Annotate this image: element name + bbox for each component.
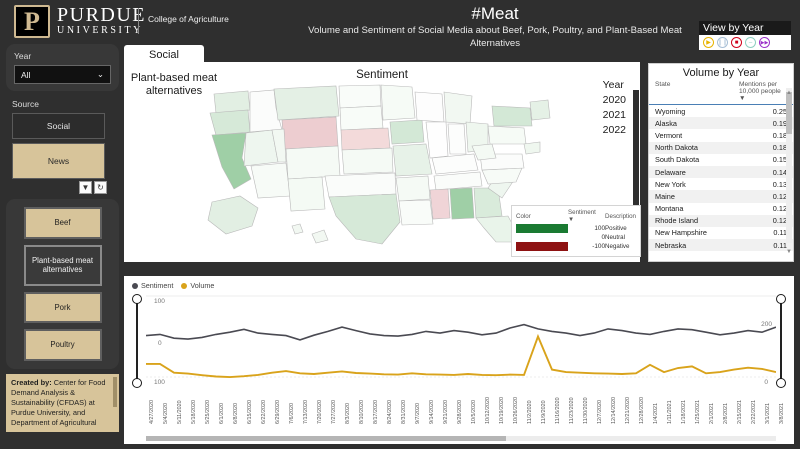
source-label: Source — [12, 99, 119, 109]
source-button-news[interactable]: News — [12, 143, 105, 179]
sidebar: Year All ⌄ Source Social News ▼ ↻ Beef P… — [6, 44, 119, 445]
x-axis-label: 11/23/2020 — [569, 397, 575, 424]
x-axis-label: 11/2/2020 — [527, 400, 533, 424]
x-axis-label: 6/29/2020 — [275, 400, 281, 424]
state-tennessee — [434, 172, 482, 190]
source-button-social[interactable]: Social — [12, 113, 105, 139]
x-axis-label: 11/16/2020 — [555, 397, 561, 424]
legend-label-sentiment: Sentiment — [141, 281, 173, 290]
cell-value: 0.13 — [757, 180, 787, 189]
legend-row-positive: 100 Positive — [516, 224, 636, 233]
state-wisconsin — [415, 92, 444, 122]
x-axis-label: 8/3/2020 — [345, 403, 351, 424]
legend-value-negative: -100 — [568, 242, 605, 251]
x-axis-label: 6/22/2020 — [261, 400, 267, 424]
chevron-down-icon: ⌄ — [97, 69, 104, 80]
legend-value-positive: 100 — [568, 224, 605, 233]
year-filter-panel: Year All ⌄ — [6, 44, 119, 91]
cell-state: Wyoming — [655, 107, 757, 116]
purdue-logo: P PURDUE UNIVERSITY — [14, 5, 146, 38]
state-colorado — [286, 146, 340, 179]
volume-table-title: Volume by Year — [649, 64, 793, 81]
chart-legend: Sentiment Volume — [132, 281, 214, 290]
table-row[interactable]: New York0.13 — [649, 178, 793, 190]
chart-plot-area[interactable] — [146, 294, 776, 379]
x-axis-label: 10/26/2020 — [513, 397, 519, 424]
x-axis-label: 1/18/2021 — [681, 400, 687, 424]
cell-value: 0.12 — [757, 216, 787, 225]
state-washington — [214, 91, 250, 113]
column-header-mentions[interactable]: Mentions per 10,000 people ▼ — [739, 81, 787, 102]
state-wyoming — [282, 117, 338, 149]
state-new-mexico — [288, 177, 325, 211]
x-axis-label: 8/17/2020 — [373, 400, 379, 424]
volume-by-year-card: Volume by Year State Mentions per 10,000… — [648, 63, 794, 262]
view-by-year-panel: View by Year ▶ ❙❙ ■ – ▶▶ — [699, 21, 791, 50]
cell-state: South Dakota — [655, 155, 757, 164]
x-axis-label: 3/1/2021 — [765, 403, 771, 424]
state-hawaii-2 — [312, 230, 328, 243]
table-row[interactable]: North Dakota0.18 — [649, 142, 793, 154]
legend-swatch-positive — [516, 224, 568, 233]
x-axis-label: 8/10/2020 — [359, 400, 365, 424]
volume-table-body: Wyoming0.25Alaska0.19Vermont0.18North Da… — [649, 105, 793, 251]
chart-x-axis-labels: 4/27/20205/4/20205/11/20205/18/20205/25/… — [146, 382, 776, 434]
table-row[interactable]: New Hampshire0.11 — [649, 227, 793, 239]
left-axis-slider-bottom-handle[interactable] — [132, 378, 142, 388]
state-new-england — [530, 100, 550, 120]
table-row[interactable]: Rhode Island0.12 — [649, 215, 793, 227]
app-header: P PURDUE UNIVERSITY College of Agricultu… — [0, 0, 800, 42]
volume-table-scrollbar-thumb[interactable] — [786, 92, 792, 134]
cell-state: Maine — [655, 192, 757, 201]
credits-box: Created by: Center for Food Demand Analy… — [6, 374, 119, 432]
cell-state: Delaware — [655, 168, 757, 177]
x-axis-label: 4/27/2020 — [149, 400, 155, 424]
state-pennsylvania — [488, 126, 526, 144]
view-by-year-label: View by Year — [699, 21, 791, 35]
x-axis-label: 3/8/2021 — [779, 403, 785, 424]
cell-value: 0.18 — [757, 131, 787, 140]
legend-row-neutral: 0 Neutral — [516, 233, 636, 242]
table-row[interactable]: Maine0.12 — [649, 190, 793, 202]
state-illinois — [426, 122, 448, 158]
x-axis-label: 11/30/2020 — [583, 397, 589, 424]
x-axis-label: 6/8/2020 — [233, 403, 239, 424]
state-alaska — [208, 196, 258, 234]
state-louisiana — [399, 200, 433, 225]
legend-desc-negative: Negative — [605, 242, 636, 251]
state-west-virginia — [472, 144, 496, 160]
x-axis-label: 8/24/2020 — [387, 400, 393, 424]
table-row[interactable]: Wyoming0.25 — [649, 105, 793, 117]
x-axis-label: 7/13/2020 — [303, 400, 309, 424]
year-select[interactable]: All ⌄ — [14, 65, 111, 84]
state-texas — [329, 194, 400, 244]
cell-value: 0.15 — [757, 155, 787, 164]
map-year-2021[interactable]: 2021 — [603, 108, 626, 123]
x-axis-label: 12/7/2020 — [597, 400, 603, 424]
x-axis-label: 5/11/2020 — [177, 400, 183, 424]
x-axis-label: 1/11/2021 — [667, 400, 673, 424]
loop-icon[interactable]: – — [745, 37, 756, 48]
title-block: #Meat Volume and Sentiment of Social Med… — [300, 3, 690, 50]
x-axis-label: 10/5/2020 — [471, 400, 477, 424]
series-line-volume[interactable] — [146, 337, 776, 378]
category-button-poultry[interactable]: Poultry — [24, 329, 102, 361]
cell-state: Alaska — [655, 119, 757, 128]
purdue-wordmark-line2: UNIVERSITY — [57, 25, 146, 37]
x-axis-label: 8/31/2020 — [401, 400, 407, 424]
state-new-york — [492, 106, 532, 126]
map-year-2020[interactable]: 2020 — [603, 93, 626, 108]
reset-icon[interactable]: ↻ — [94, 181, 107, 194]
cell-value: 0.14 — [757, 168, 787, 177]
legend-desc-positive: Positive — [605, 224, 636, 233]
state-hawaii — [292, 224, 303, 234]
x-axis-label: 9/14/2020 — [429, 400, 435, 424]
filter-icon[interactable]: ▼ — [79, 181, 92, 194]
left-axis-slider-top-handle[interactable] — [132, 294, 142, 304]
state-montana — [274, 86, 339, 120]
x-axis-label: 2/22/2021 — [751, 400, 757, 424]
legend-value-neutral: 0 — [568, 233, 605, 242]
map-year-list: Year 2020 2021 2022 — [603, 78, 626, 138]
x-axis-label: 12/21/2020 — [625, 397, 631, 424]
credits-bold-label: Created by: — [11, 378, 52, 387]
state-oklahoma — [325, 173, 396, 197]
series-line-sentiment[interactable] — [146, 325, 776, 340]
filter-icon-group[interactable]: ▼ ↻ — [6, 181, 107, 194]
map-legend: Color Sentiment ▼ Description 100 Positi… — [511, 205, 641, 257]
legend-header-sentiment: Sentiment ▼ — [568, 209, 605, 224]
table-row[interactable]: South Dakota0.15 — [649, 154, 793, 166]
x-axis-label: 10/12/2020 — [485, 397, 491, 424]
x-axis-label: 10/19/2020 — [499, 397, 505, 424]
x-axis-label: 6/15/2020 — [247, 400, 253, 424]
speed-icon[interactable]: ▶▶ — [759, 37, 770, 48]
table-row[interactable]: Montana0.12 — [649, 203, 793, 215]
state-north-carolina — [482, 168, 522, 184]
year-label: Year — [14, 51, 111, 61]
playback-controls[interactable]: ▶ ❙❙ ■ – ▶▶ — [699, 35, 791, 50]
state-iowa — [390, 120, 424, 144]
state-indiana — [448, 124, 466, 154]
purdue-wordmark-line1: PURDUE — [57, 6, 146, 25]
page-subtitle: Volume and Sentiment of Social Media abo… — [300, 25, 690, 50]
cell-value: 0.19 — [757, 119, 787, 128]
chart-hscrollbar-thumb[interactable] — [146, 436, 506, 441]
state-michigan — [444, 92, 472, 124]
state-arkansas — [396, 176, 430, 201]
college-label: College of Agriculture — [148, 14, 229, 24]
cell-state: New York — [655, 180, 757, 189]
state-oregon — [210, 110, 250, 135]
legend-desc-neutral: Neutral — [605, 233, 636, 242]
state-alabama — [450, 188, 474, 219]
state-north-dakota — [339, 85, 381, 108]
state-minnesota — [381, 85, 415, 120]
map-year-header: Year — [603, 78, 626, 93]
x-axis-label: 2/1/2021 — [709, 403, 715, 424]
x-axis-label: 1/4/2021 — [653, 403, 659, 424]
cell-value: 0.11 — [757, 228, 787, 237]
category-button-beef[interactable]: Beef — [24, 207, 102, 239]
legend-dot-sentiment — [132, 283, 138, 289]
x-axis-label: 5/25/2020 — [205, 400, 211, 424]
cell-state: Vermont — [655, 131, 757, 140]
cell-value: 0.12 — [757, 192, 787, 201]
timeseries-chart-card: Sentiment Volume 100 0 100 200 0 4/27/20… — [124, 276, 794, 444]
legend-header-color: Color — [516, 209, 568, 224]
category-filter-panel: Beef Plant-based meat alternatives Pork … — [6, 199, 119, 369]
table-row[interactable]: Vermont0.18 — [649, 129, 793, 141]
category-button-pork[interactable]: Pork — [24, 292, 102, 324]
column-header-state[interactable]: State — [655, 81, 739, 102]
state-nebraska — [341, 128, 390, 150]
sort-caret-icon: ▼ — [568, 216, 574, 223]
pause-icon[interactable]: ❙❙ — [717, 37, 728, 48]
map-title: Sentiment — [124, 69, 640, 81]
map-year-2022[interactable]: 2022 — [603, 123, 626, 138]
legend-swatch-negative — [516, 242, 568, 251]
left-axis-slider-track[interactable] — [136, 300, 138, 384]
stop-icon[interactable]: ■ — [731, 37, 742, 48]
state-maryland — [524, 142, 540, 154]
x-axis-label: 9/28/2020 — [457, 400, 463, 424]
state-mississippi — [430, 189, 450, 219]
legend-swatch-neutral — [516, 233, 568, 242]
state-kansas — [342, 148, 393, 174]
state-arizona — [251, 163, 290, 198]
purdue-p-icon: P — [14, 5, 50, 38]
right-axis-slider-top-handle[interactable] — [776, 294, 786, 304]
cell-value: 0.18 — [757, 143, 787, 152]
x-axis-label: 5/4/2020 — [163, 403, 169, 424]
state-missouri — [393, 144, 432, 176]
x-axis-label: 7/6/2020 — [289, 403, 295, 424]
legend-item-sentiment[interactable]: Sentiment — [132, 281, 173, 290]
state-south-dakota — [340, 106, 383, 130]
x-axis-label: 11/9/2020 — [541, 400, 547, 424]
x-axis-label: 12/14/2020 — [611, 397, 617, 424]
table-row[interactable]: Nebraska0.11 — [649, 239, 793, 251]
cell-value: 0.11 — [757, 241, 787, 250]
cell-state: New Hampshire — [655, 228, 757, 237]
cell-value: 0.12 — [757, 204, 787, 213]
x-axis-label: 5/18/2020 — [191, 400, 197, 424]
cell-value: 0.25 — [757, 107, 787, 116]
right-axis-slider-bottom-handle[interactable] — [776, 378, 786, 388]
x-axis-label: 12/28/2020 — [639, 397, 645, 424]
x-axis-label: 1/25/2021 — [695, 400, 701, 424]
legend-row-negative: -100 Negative — [516, 242, 636, 251]
scroll-up-icon[interactable]: ▲ — [786, 90, 792, 96]
x-axis-label: 9/7/2020 — [415, 403, 421, 424]
legend-header-description: Description — [605, 209, 636, 224]
x-axis-label: 7/20/2020 — [317, 400, 323, 424]
play-icon[interactable]: ▶ — [703, 37, 714, 48]
legend-item-volume[interactable]: Volume — [181, 281, 214, 290]
x-axis-label: 6/1/2020 — [219, 403, 225, 424]
volume-table-header: State Mentions per 10,000 people ▼ — [649, 81, 793, 105]
table-row[interactable]: Delaware0.14 — [649, 166, 793, 178]
x-axis-label: 2/15/2021 — [737, 400, 743, 424]
cell-state: North Dakota — [655, 143, 757, 152]
table-row[interactable]: Alaska0.19 — [649, 117, 793, 129]
page-title: #Meat — [300, 3, 690, 24]
legend-dot-volume — [181, 283, 187, 289]
cell-state: Rhode Island — [655, 216, 757, 225]
year-select-value: All — [21, 70, 30, 80]
category-button-plant-based[interactable]: Plant-based meat alternatives — [24, 245, 102, 286]
logo-divider — [138, 8, 139, 34]
x-axis-label: 9/21/2020 — [443, 400, 449, 424]
map-scrollbar[interactable] — [633, 90, 639, 210]
right-axis-slider-track[interactable] — [780, 300, 782, 384]
purdue-wordmark: PURDUE UNIVERSITY — [57, 6, 146, 37]
sort-caret-icon: ▼ — [739, 95, 746, 102]
cell-state: Nebraska — [655, 241, 757, 250]
credits-scrollbar[interactable] — [113, 377, 117, 407]
x-axis-label: 2/8/2021 — [723, 403, 729, 424]
x-axis-label: 7/27/2020 — [331, 400, 337, 424]
cell-state: Montana — [655, 204, 757, 213]
scroll-down-icon[interactable]: ▼ — [786, 249, 792, 255]
legend-label-volume: Volume — [190, 281, 214, 290]
